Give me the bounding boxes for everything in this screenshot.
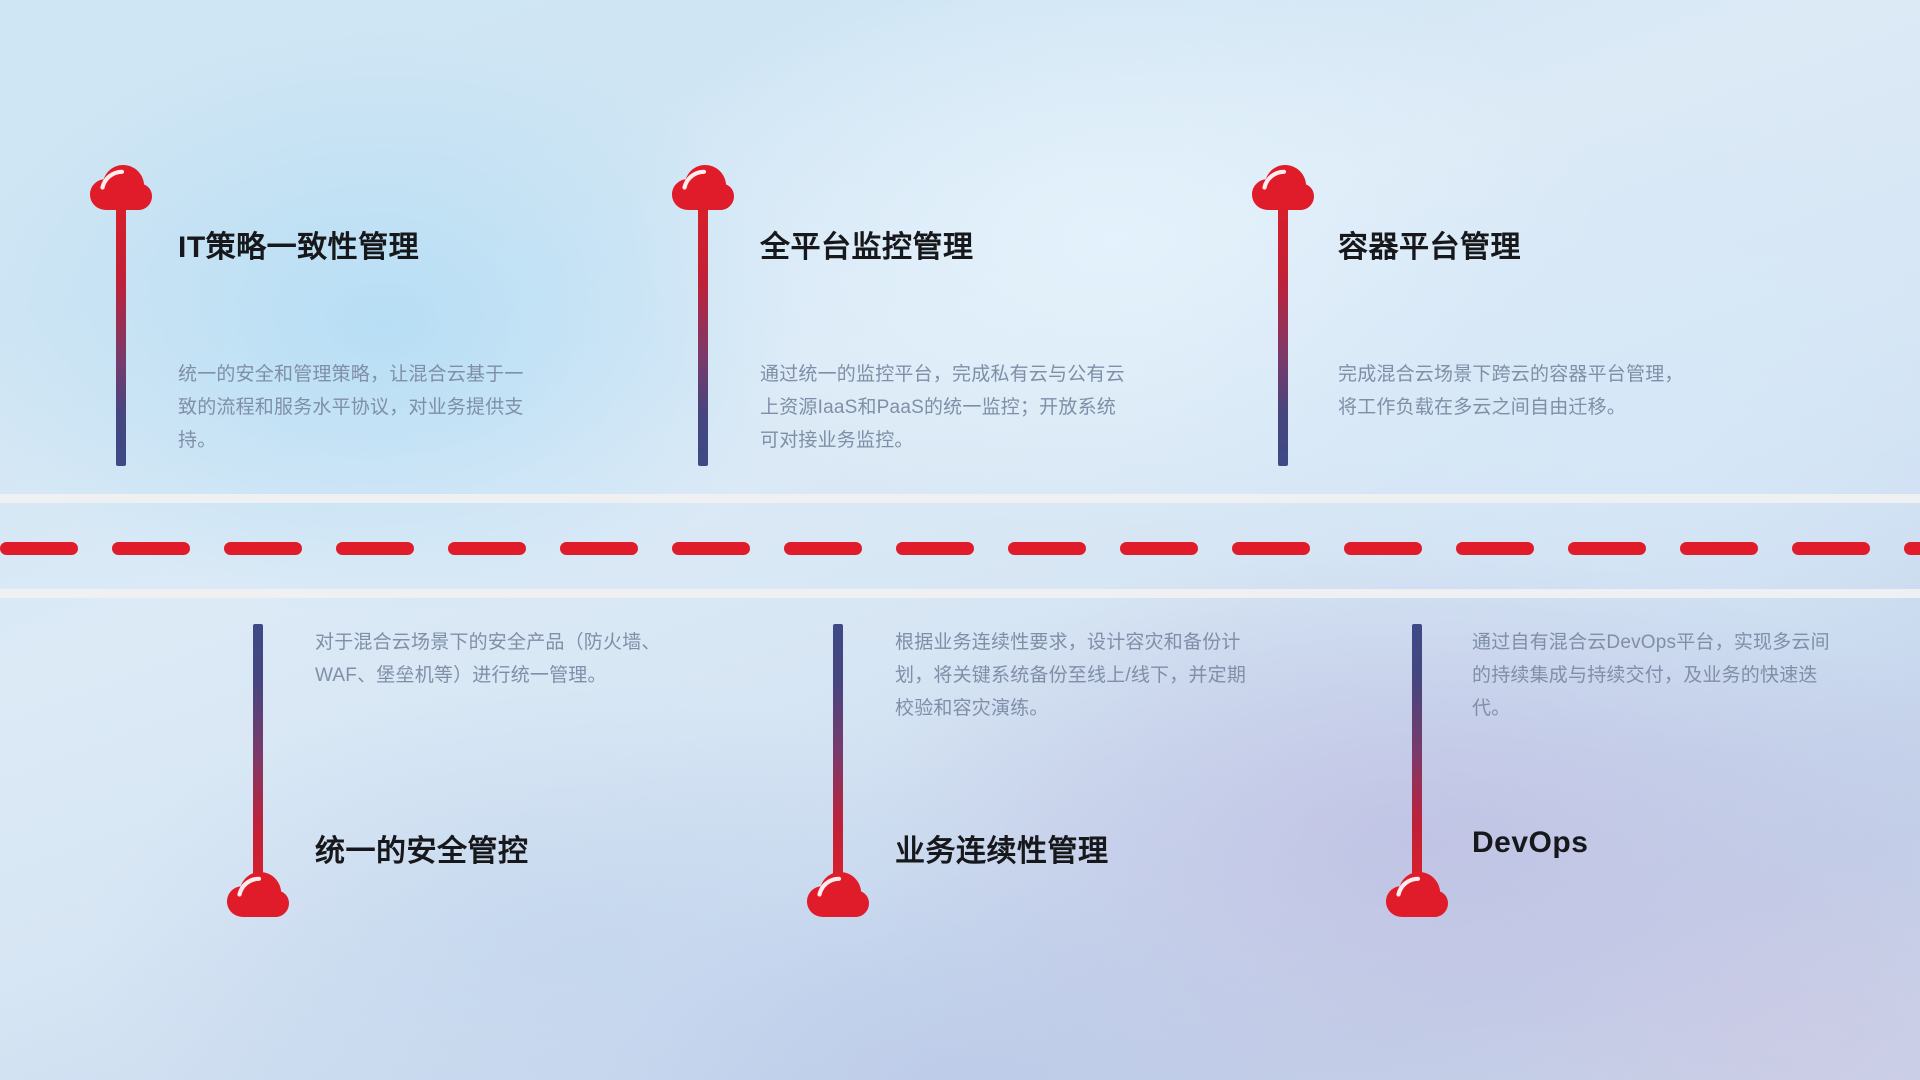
- timeline-stem: [833, 624, 843, 882]
- dash-segment: [1120, 542, 1198, 555]
- dash-segment: [224, 542, 302, 555]
- dash-segment: [672, 542, 750, 555]
- cloud-icon: [227, 872, 289, 918]
- card-title: 容器平台管理: [1338, 222, 1521, 266]
- dash-segment: [1232, 542, 1310, 555]
- dash-segment: [1680, 542, 1758, 555]
- timeline-stem: [116, 208, 126, 466]
- dash-segment: [1344, 542, 1422, 555]
- cloud-icon: [90, 165, 152, 211]
- card-title: DevOps: [1472, 826, 1588, 860]
- bottom-row: 对于混合云场景下的安全产品（防火墙、WAF、堡垒机等）进行统一管理。 统一的安全…: [0, 598, 1920, 1080]
- cloud-icon: [672, 165, 734, 211]
- dash-segment: [112, 542, 190, 555]
- dash-segment: [1456, 542, 1534, 555]
- card-body: 通过自有混合云DevOps平台，实现多云间的持续集成与持续交付，及业务的快速迭代…: [1472, 626, 1832, 725]
- card-body: 根据业务连续性要求，设计容灾和备份计划，将关键系统备份至线上/线下，并定期校验和…: [895, 626, 1265, 725]
- timeline-stem: [698, 208, 708, 466]
- cloud-icon: [1386, 872, 1448, 918]
- card-title: IT策略一致性管理: [178, 222, 419, 266]
- timeline-stem: [1412, 624, 1422, 882]
- card-body: 对于混合云场景下的安全产品（防火墙、WAF、堡垒机等）进行统一管理。: [315, 626, 675, 692]
- dash-segment: [336, 542, 414, 555]
- card-title: 全平台监控管理: [760, 222, 974, 266]
- card-title: 统一的安全管控: [315, 826, 529, 870]
- timeline-stem: [1278, 208, 1288, 466]
- dash-segment: [448, 542, 526, 555]
- dash-segment: [1904, 542, 1920, 555]
- timeline-stem: [253, 624, 263, 882]
- dashed-separator: [0, 542, 1920, 555]
- dash-segment: [1792, 542, 1870, 555]
- dash-segment: [1008, 542, 1086, 555]
- divider-line-lower: [0, 589, 1920, 598]
- dash-segment: [896, 542, 974, 555]
- dash-segment: [0, 542, 78, 555]
- top-row: IT策略一致性管理 统一的安全和管理策略，让混合云基于一致的流程和服务水平协议，…: [0, 0, 1920, 494]
- divider-line-upper: [0, 494, 1920, 503]
- card-body: 完成混合云场景下跨云的容器平台管理，将工作负载在多云之间自由迁移。: [1338, 358, 1698, 424]
- dash-segment: [784, 542, 862, 555]
- cloud-icon: [1252, 165, 1314, 211]
- card-title: 业务连续性管理: [895, 826, 1109, 870]
- card-body: 通过统一的监控平台，完成私有云与公有云上资源IaaS和PaaS的统一监控；开放系…: [760, 358, 1130, 457]
- dash-segment: [560, 542, 638, 555]
- cloud-icon: [807, 872, 869, 918]
- card-body: 统一的安全和管理策略，让混合云基于一致的流程和服务水平协议，对业务提供支持。: [178, 358, 538, 457]
- dash-segment: [1568, 542, 1646, 555]
